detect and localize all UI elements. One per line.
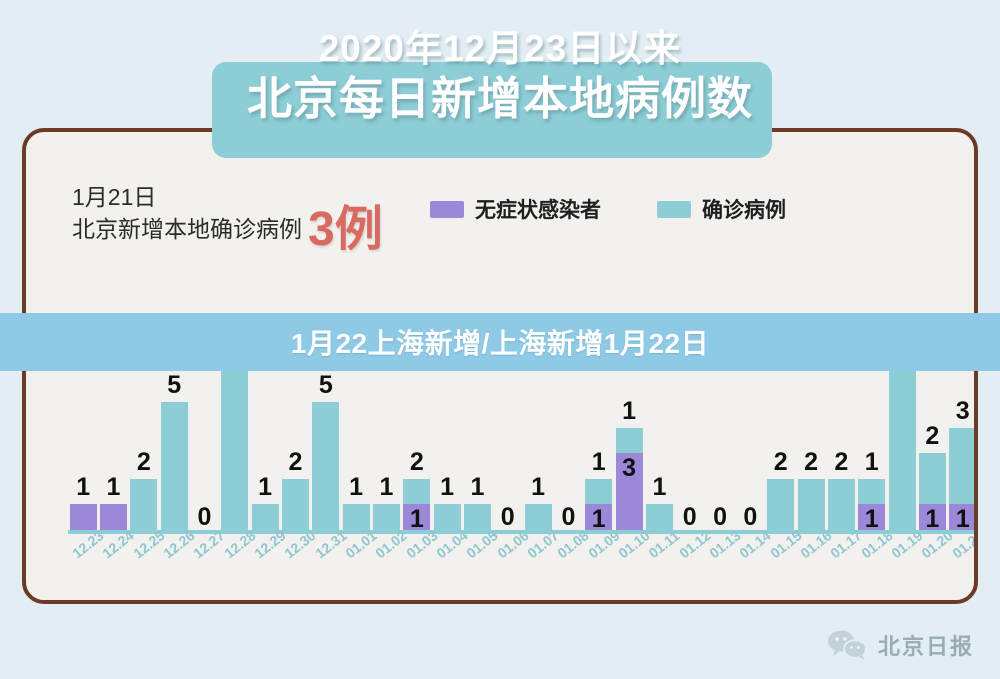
x-axis-tick: 01.13 [705,534,735,582]
x-axis-tick: 01.17 [826,534,856,582]
subtitle-count: 3例 [308,203,383,256]
bar-stack: 13 [616,428,643,530]
bar-stack: 11 [585,479,612,530]
legend-swatch-asymptomatic [430,201,464,218]
bar-value-label: 2 [767,449,794,475]
x-axis-tick: 01.16 [796,534,826,582]
x-axis-labels: 12.2312.2412.2512.2612.2712.2812.2912.30… [68,534,978,582]
bar-segment-confirmed [130,479,157,530]
x-axis-tick: 01.19 [887,534,917,582]
chart-legend: 无症状感染者 确诊病例 [430,194,786,224]
x-axis-tick: 01.11 [644,534,674,582]
bar-segment-confirmed [828,479,855,530]
bar-stack: 11 [858,479,885,530]
bar-segment-confirmed [767,479,794,530]
x-axis-tick: 12.28 [220,534,250,582]
bar-value-label: 2 [919,423,946,449]
x-axis-tick: 01.01 [341,534,371,582]
bar-stack: 7 [221,351,248,530]
bar-segment-asymptomatic [100,504,127,530]
overlay-banner-text: 1月22上海新增/上海新增1月22日 [291,322,709,362]
bar-inner-value-label: 1 [403,506,430,532]
bar-value-label: 3 [949,398,976,424]
bar-inner-value-label: 1 [585,506,612,532]
bar-segment-confirmed [312,402,339,530]
bar-stack: 31 [949,428,976,530]
subtitle-block: 1月21日 北京新增本地确诊病例3例 [72,182,383,247]
bar-segment-confirmed [525,504,552,530]
bar-segment-confirmed [798,479,825,530]
bar-segment-confirmed [464,504,491,530]
bar-value-label: 1 [70,474,97,500]
bar-stack: 7 [889,351,916,530]
bar-value-label: 1 [585,449,612,475]
x-axis-tick: 12.29 [250,534,280,582]
x-axis-tick: 01.05 [462,534,492,582]
bar-zero-label: 0 [189,504,219,530]
bar-stack: 2 [828,479,855,530]
bar-value-label: 1 [464,474,491,500]
bar-segment-confirmed [949,428,976,505]
x-axis-tick: 01.20 [917,534,947,582]
x-axis-tick: 01.03 [402,534,432,582]
bar-stack: 1 [525,504,552,530]
bar-stack: 1 [100,504,127,530]
bar-stack: 21 [403,479,430,530]
bar-value-label: 2 [282,449,309,475]
x-axis-tick: 01.18 [857,534,887,582]
bar-value-label: 1 [858,449,885,475]
bar-value-label: 5 [312,372,339,398]
x-axis-tick: 01.15 [766,534,796,582]
page-root: 2020年12月23日以来 北京每日新增本地病例数 1月21日 北京新增本地确诊… [0,0,1000,679]
x-axis-tick: 01.07 [523,534,553,582]
bar-segment-confirmed [343,504,370,530]
footer-attribution: 北京日报 [826,629,974,661]
bar-segment-confirmed [373,504,400,530]
footer-label: 北京日报 [878,629,974,661]
bar-stack: 5 [312,402,339,530]
subtitle-summary-text: 北京新增本地确诊病例 [72,216,302,242]
bar-segment-confirmed [282,479,309,530]
title-line-1: 2020年12月23日以来 [0,0,1000,72]
bar-stack: 1 [434,504,461,530]
bar-zero-label: 0 [675,504,705,530]
bar-segment-confirmed [403,479,430,505]
x-axis-tick: 12.26 [159,534,189,582]
chart-title: 2020年12月23日以来 北京每日新增本地病例数 [0,0,1000,126]
legend-item-confirmed: 确诊病例 [657,194,786,224]
bar-zero-label: 0 [735,504,765,530]
x-axis-tick: 01.12 [675,534,705,582]
bar-value-label: 1 [646,474,673,500]
bar-segment-confirmed [252,504,279,530]
x-axis-tick: 12.31 [311,534,341,582]
overlay-banner: 1月22上海新增/上海新增1月22日 [0,313,1000,371]
bar-value-label: 1 [616,398,643,424]
title-line-2: 北京每日新增本地病例数 [0,72,1000,126]
bar-value-label: 2 [130,449,157,475]
x-axis-tick: 12.27 [189,534,219,582]
bar-stack: 2 [282,479,309,530]
bar-stack: 2 [130,479,157,530]
bar-zero-label: 0 [493,504,523,530]
bar-segment-confirmed [616,428,643,454]
bar-value-label: 1 [252,474,279,500]
bar-segment-asymptomatic [70,504,97,530]
legend-swatch-confirmed [657,201,691,218]
bar-stack: 1 [343,504,370,530]
bar-segment-confirmed [434,504,461,530]
bar-segment-confirmed [585,479,612,505]
bar-inner-value-label: 1 [858,506,885,532]
bar-segment-confirmed [646,504,673,530]
x-axis-tick: 01.14 [735,534,765,582]
bar-segment-confirmed [161,402,188,530]
legend-label-confirmed: 确诊病例 [702,194,786,224]
wechat-icon [826,629,868,661]
bar-stack: 21 [919,453,946,530]
legend-label-asymptomatic: 无症状感染者 [475,194,601,224]
bar-value-label: 2 [403,449,430,475]
bar-inner-value-label: 1 [949,506,976,532]
x-axis-tick: 12.24 [98,534,128,582]
bar-value-label: 2 [798,449,825,475]
bar-value-label: 2 [828,449,855,475]
bar-segment-confirmed [858,479,885,505]
bar-stack: 2 [798,479,825,530]
bar-zero-label: 0 [705,504,735,530]
bar-segment-confirmed [889,351,916,530]
bar-stack: 1 [252,504,279,530]
bar-value-label: 1 [100,474,127,500]
bar-value-label: 5 [161,372,188,398]
bar-stack: 2 [767,479,794,530]
bar-stack: 1 [373,504,400,530]
x-axis-tick: 01.21 [948,534,978,582]
bar-segment-confirmed [221,351,248,530]
bar-value-label: 1 [373,474,400,500]
bar-value-label: 1 [343,474,370,500]
bar-zero-label: 0 [553,504,583,530]
x-axis-tick: 01.09 [584,534,614,582]
x-axis-tick: 01.10 [614,534,644,582]
bar-stack: 1 [646,504,673,530]
bar-stack: 5 [161,402,188,530]
x-axis-tick: 01.08 [553,534,583,582]
bar-value-label: 1 [525,474,552,500]
legend-item-asymptomatic: 无症状感染者 [430,194,601,224]
bar-stack: 1 [70,504,97,530]
bar-stack: 1 [464,504,491,530]
bar-segment-confirmed [919,453,946,504]
bar-inner-value-label: 1 [919,506,946,532]
subtitle-summary: 北京新增本地确诊病例3例 [72,212,383,247]
x-axis-tick: 12.30 [280,534,310,582]
bar-inner-value-label: 3 [616,455,643,481]
x-axis-tick: 12.25 [129,534,159,582]
x-axis-tick: 01.06 [493,534,523,582]
x-axis-tick: 12.23 [68,534,98,582]
bar-value-label: 1 [434,474,461,500]
x-axis-tick: 01.02 [371,534,401,582]
x-axis-tick: 01.04 [432,534,462,582]
